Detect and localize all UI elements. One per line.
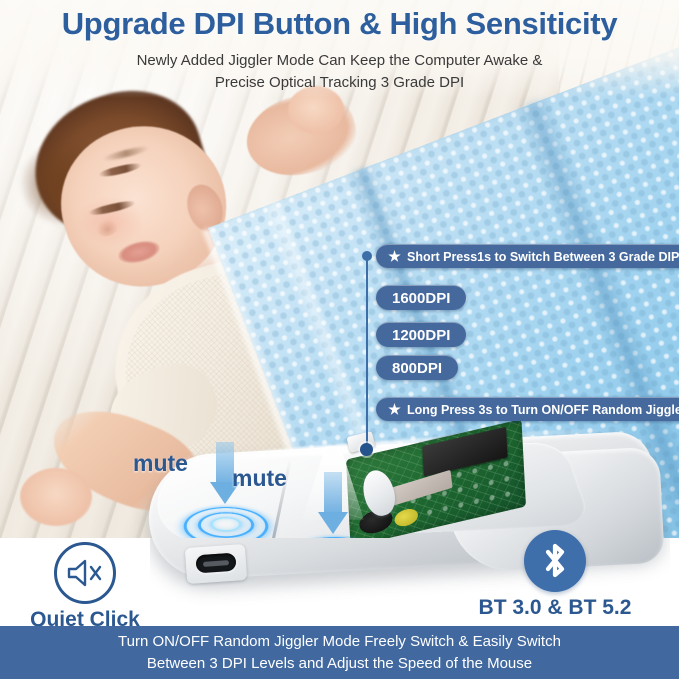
dpi-badge-1600: 1600DPI (376, 285, 466, 310)
leader-dot-bottom (360, 443, 373, 456)
bluetooth-icon (524, 530, 586, 592)
mute-speaker-icon (54, 542, 116, 604)
star-icon (388, 250, 401, 263)
callout-short-press-label: Short Press1s to Switch Between 3 Grade … (407, 250, 679, 264)
press-arrow-right-icon (318, 472, 348, 534)
baby-lower-hand (20, 468, 92, 526)
bottom-banner: Turn ON/OFF Random Jiggler Mode Freely S… (0, 626, 679, 679)
mute-label-right: mute (232, 465, 287, 492)
arrow-stem (324, 472, 342, 512)
arrow-head (318, 512, 348, 534)
dpi-badge-label: 1600DPI (392, 290, 450, 307)
leader-dot-top (362, 251, 372, 261)
dpi-leader-line (366, 256, 368, 450)
feature-quiet-click: Quiet Click (0, 542, 185, 632)
feature-bluetooth-label: BT 3.0 & BT 5.2 (455, 596, 655, 620)
feature-bluetooth: BT 3.0 & BT 5.2 (455, 530, 655, 620)
banner-line-2: Between 3 DPI Levels and Adjust the Spee… (147, 653, 532, 675)
dpi-badge-label: 800DPI (392, 360, 442, 377)
banner-line-1: Turn ON/OFF Random Jiggler Mode Freely S… (118, 631, 561, 653)
callout-long-press-label: Long Press 3s to Turn ON/OFF Random Jigg… (407, 403, 679, 417)
callout-long-press: Long Press 3s to Turn ON/OFF Random Jigg… (376, 397, 679, 421)
mute-label-left: mute (133, 450, 188, 477)
subtitle-line-1: Newly Added Jiggler Mode Can Keep the Co… (0, 50, 679, 72)
page-title: Upgrade DPI Button & High Sensiticity (0, 6, 679, 42)
subtitle-line-2: Precise Optical Tracking 3 Grade DPI (0, 72, 679, 94)
dpi-badge-1200: 1200DPI (376, 322, 466, 347)
star-icon (388, 403, 401, 416)
dpi-badge-label: 1200DPI (392, 327, 450, 344)
callout-short-press: Short Press1s to Switch Between 3 Grade … (376, 244, 679, 268)
page-subtitle: Newly Added Jiggler Mode Can Keep the Co… (0, 50, 679, 94)
product-infographic: Upgrade DPI Button & High Sensiticity Ne… (0, 0, 679, 679)
dpi-badge-800: 800DPI (376, 355, 458, 380)
